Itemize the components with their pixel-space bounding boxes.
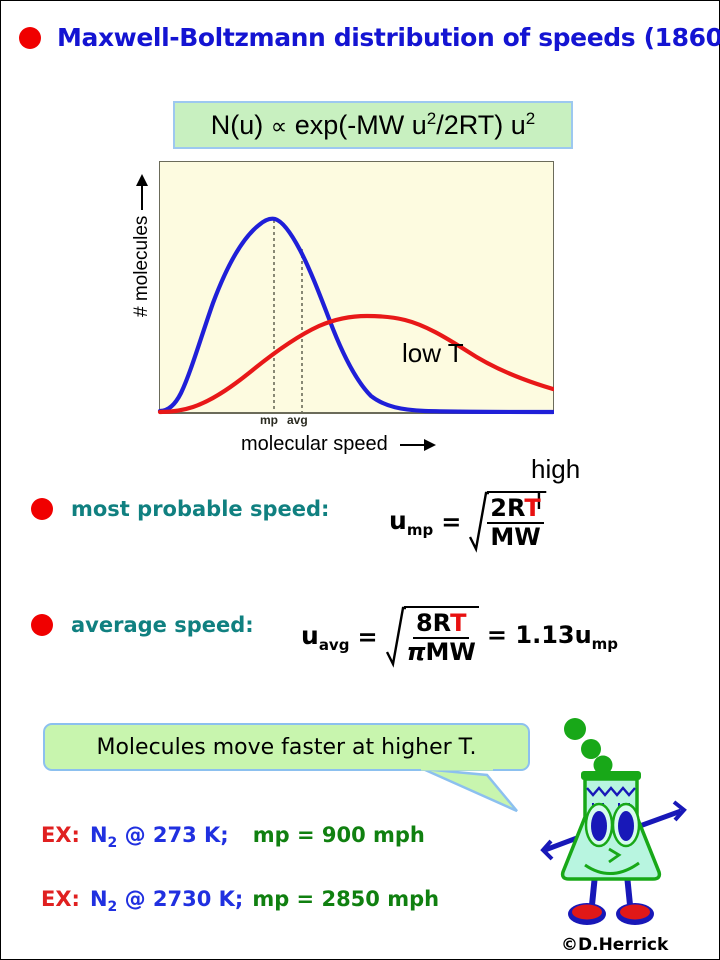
bullet-icon: [31, 614, 53, 636]
equation-tail: = 1.13ump: [487, 621, 618, 653]
chart-tick-label-mp: mp: [260, 413, 278, 427]
distribution-formula-text: N(u) ∝ exp(-MW u2/2RT) u2: [211, 109, 535, 141]
bubble-icon: [581, 739, 601, 759]
chart-x-axis-label: molecular speed: [241, 433, 388, 456]
chart-x-axis-label-group: molecular speed: [241, 433, 434, 456]
most-probable-speed-equation: ump = 2RT MW: [389, 491, 544, 553]
variable-symbol: u: [301, 621, 319, 650]
copyright-notice: ©D.Herrick: [561, 935, 668, 955]
example-line-1: EX: N2 @ 273 K; mp = 900 mph: [41, 823, 425, 851]
fraction-numerator: 8RT: [413, 610, 469, 639]
arrow-up-icon: [141, 176, 143, 210]
arrow-right-icon: [400, 444, 434, 446]
shoe-left-top: [572, 905, 602, 920]
example-tag: EX:: [41, 887, 80, 911]
condition-species: N: [90, 823, 108, 847]
formula-exponent-1: 2: [427, 109, 436, 128]
radical-icon: [386, 606, 406, 668]
numerator-temperature: T: [450, 609, 466, 637]
distribution-formula-box: N(u) ∝ exp(-MW u2/2RT) u2: [173, 101, 573, 149]
equation-tail-subscript: mp: [592, 635, 618, 653]
fraction-numerator: 2RT: [487, 495, 543, 524]
numerator-temperature: T: [524, 494, 540, 522]
condition-subscript: 2: [108, 835, 118, 851]
fraction-group: 2RT MW: [487, 491, 543, 553]
numerator-text: 2R: [490, 494, 524, 522]
bubble-icon: [564, 718, 586, 740]
chart-curves: [119, 161, 554, 461]
speech-bubble: Molecules move faster at higher T.: [43, 723, 530, 771]
example-result: mp = 2850 mph: [252, 887, 439, 911]
variable-u-mp: ump: [389, 506, 433, 539]
fraction-group: 8RT πMW: [404, 606, 479, 668]
condition-temperature: @ 273 K;: [117, 823, 228, 847]
proportional-icon: ∝: [271, 113, 287, 139]
fraction-denominator: MW: [487, 524, 543, 551]
variable-u-avg: uavg: [301, 621, 349, 654]
shoe-right-top: [620, 905, 650, 920]
example-condition: N2 @ 2730 K;: [90, 887, 243, 915]
formula-body: exp(-MW u: [287, 110, 427, 140]
most-probable-speed-label: most probable speed:: [71, 497, 329, 521]
square-root-group: 8RT πMW: [386, 606, 479, 668]
example-result: mp = 900 mph: [253, 823, 425, 847]
chart-y-axis-label-group: # molecules: [131, 147, 153, 317]
example-line-2: EX: N2 @ 2730 K; mp = 2850 mph: [41, 887, 439, 915]
page-title: Maxwell-Boltzmann distribution of speeds…: [57, 23, 720, 52]
variable-symbol: u: [389, 506, 407, 535]
variable-subscript: avg: [319, 636, 350, 654]
flask-rim: [581, 771, 641, 780]
speech-bubble-tail-icon: [421, 767, 521, 815]
equation-tail-text: = 1.13u: [487, 621, 592, 649]
radical-icon: [469, 491, 489, 553]
condition-species: N: [90, 887, 108, 911]
condition-subscript: 2: [108, 899, 118, 915]
pi-symbol: π: [407, 638, 426, 666]
fraction-denominator: πMW: [404, 639, 479, 666]
condition-temperature: @ 2730 K;: [117, 887, 243, 911]
speech-bubble-text: Molecules move faster at higher T.: [96, 735, 476, 760]
equals-sign: =: [441, 508, 461, 536]
slide-title-row: Maxwell-Boltzmann distribution of speeds…: [19, 23, 720, 52]
chart-tick-label-avg: avg: [287, 413, 308, 427]
equals-sign: =: [357, 623, 377, 651]
distribution-chart: # molecules molecular speed low T high T: [119, 161, 554, 461]
formula-body-2: /2RT) u: [436, 110, 526, 140]
average-speed-row: average speed:: [31, 613, 254, 637]
pupil-right: [618, 811, 634, 841]
bullet-icon: [19, 27, 41, 49]
pupil-left: [591, 811, 607, 841]
formula-exponent-2: 2: [526, 109, 535, 128]
numerator-text: 8R: [416, 609, 450, 637]
example-condition: N2 @ 273 K;: [90, 823, 229, 851]
chart-y-axis-label: # molecules: [131, 216, 153, 317]
most-probable-speed-row: most probable speed:: [31, 497, 329, 521]
average-speed-label: average speed:: [71, 613, 254, 637]
variable-subscript: mp: [407, 521, 433, 539]
example-tag: EX:: [41, 823, 80, 847]
formula-lead: N(u): [211, 110, 271, 140]
average-speed-equation: uavg = 8RT πMW = 1.13ump: [301, 606, 618, 668]
square-root-group: 2RT MW: [469, 491, 543, 553]
curve-high-t: [160, 316, 553, 412]
denominator-text: MW: [426, 638, 476, 666]
bullet-icon: [31, 498, 53, 520]
flask-character: [529, 707, 709, 937]
chart-annotation-low-t: low T: [402, 338, 464, 369]
